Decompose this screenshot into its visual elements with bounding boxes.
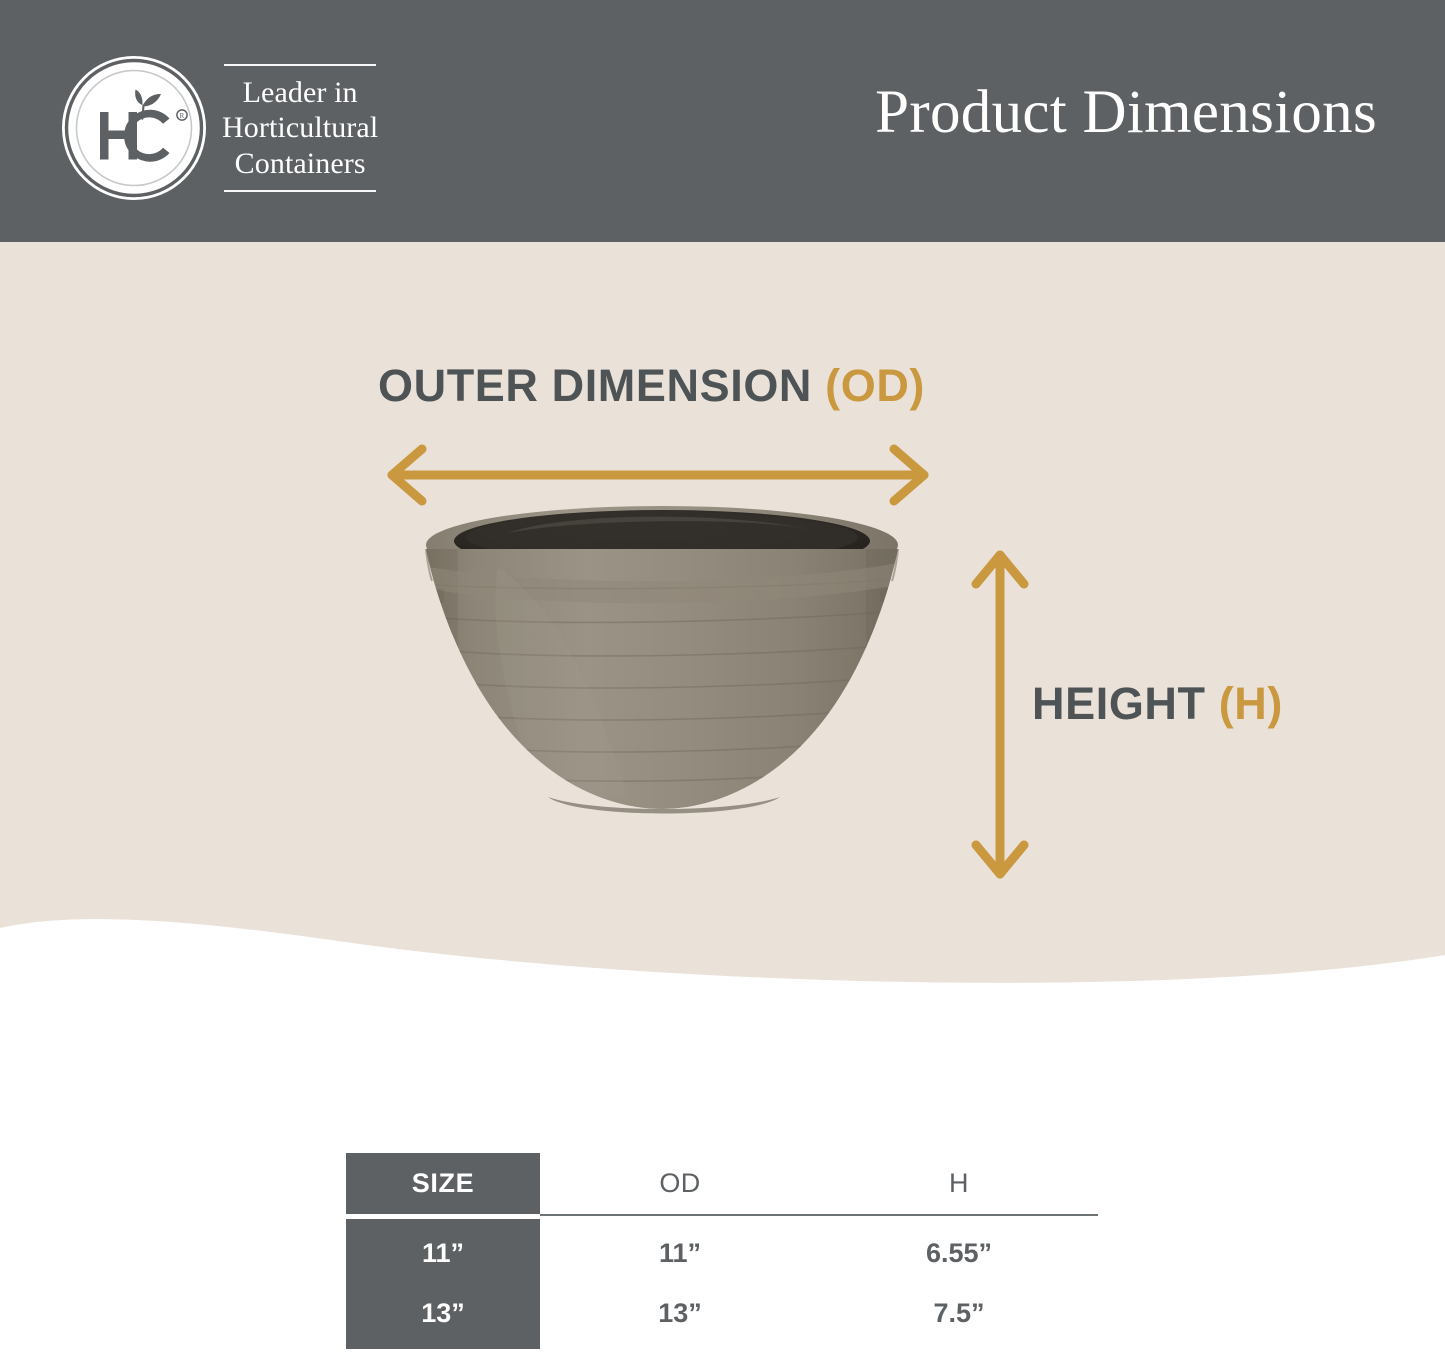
table-header-label-size: SIZE [412, 1168, 474, 1199]
hc-logo-icon: R [58, 52, 210, 204]
cell-size: 13” [421, 1298, 465, 1329]
table-header-label-od: OD [659, 1168, 700, 1199]
height-label-main: HEIGHT [1032, 678, 1219, 729]
cell-od: 13” [540, 1289, 820, 1337]
diagram-stage: OUTER DIMENSION (OD) HEIGHT (H) [0, 242, 1445, 1002]
outer-dimension-label-accent: (OD) [825, 360, 925, 411]
height-label: HEIGHT (H) [1032, 678, 1283, 730]
tagline-rule-bottom [224, 190, 376, 192]
table-header-label-h: H [949, 1168, 969, 1199]
outer-dimension-label-main: OUTER DIMENSION [378, 360, 825, 411]
spec-table: SIZE OD H 11” 11” 6.55” 13” 13” 7.5” [346, 1153, 1098, 1349]
page-title: Product Dimensions [875, 78, 1377, 148]
table-header-divider [540, 1214, 1098, 1216]
table-header-cell-h: H [820, 1153, 1098, 1214]
brand-tagline-text: Leader in Horticultural Containers [222, 66, 378, 190]
table-header-cell-od: OD [540, 1153, 820, 1214]
outer-dimension-label: OUTER DIMENSION (OD) [0, 360, 1445, 412]
header-bar: R Leader in Horticultural Containers Pro… [0, 0, 1445, 242]
cell-size: 11” [422, 1238, 464, 1269]
brand-lockup: R Leader in Horticultural Containers [58, 52, 382, 204]
double-headed-vertical-arrow-icon [968, 542, 1032, 887]
height-label-accent: (H) [1219, 678, 1283, 729]
table-row: 11” [346, 1229, 540, 1277]
planter-pot-image [388, 497, 936, 867]
table-header-cell-size: SIZE [346, 1153, 540, 1214]
tagline-rule-top [224, 64, 376, 66]
cell-h: 7.5” [820, 1289, 1098, 1337]
brand-tagline: Leader in Horticultural Containers [218, 64, 382, 192]
table-row: 13” [346, 1289, 540, 1337]
cell-od: 11” [540, 1229, 820, 1277]
cell-h: 6.55” [820, 1229, 1098, 1277]
svg-text:R: R [180, 112, 185, 120]
